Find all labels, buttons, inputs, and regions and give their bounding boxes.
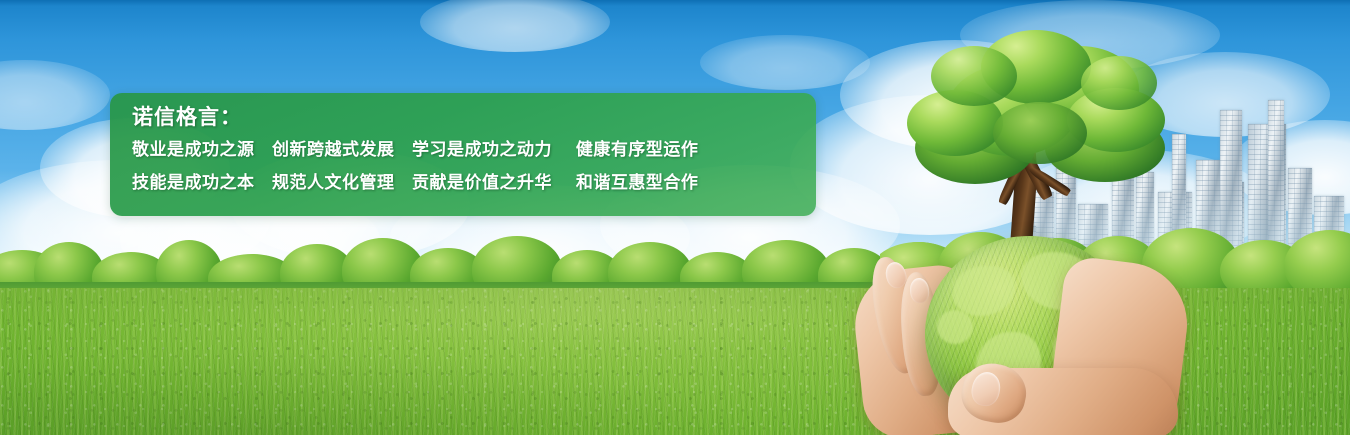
motto-line-1: 敬业是成功之源 创新跨越式发展 学习是成功之动力 健康有序型运作 (132, 142, 816, 159)
motto-panel: 诺信格言： 敬业是成功之源 创新跨越式发展 学习是成功之动力 健康有序型运作 技… (110, 93, 816, 216)
tree-canopy (1081, 56, 1157, 110)
tree-canopy (931, 46, 1017, 106)
motto-title: 诺信格言： (132, 107, 816, 128)
tree-canopy (993, 102, 1087, 164)
eco-banner: 诺信格言： 敬业是成功之源 创新跨越式发展 学习是成功之动力 健康有序型运作 技… (0, 0, 1350, 435)
motto-line-2: 技能是成功之本 规范人文化管理 贡献是价值之升华 和谐互惠型合作 (132, 175, 816, 192)
